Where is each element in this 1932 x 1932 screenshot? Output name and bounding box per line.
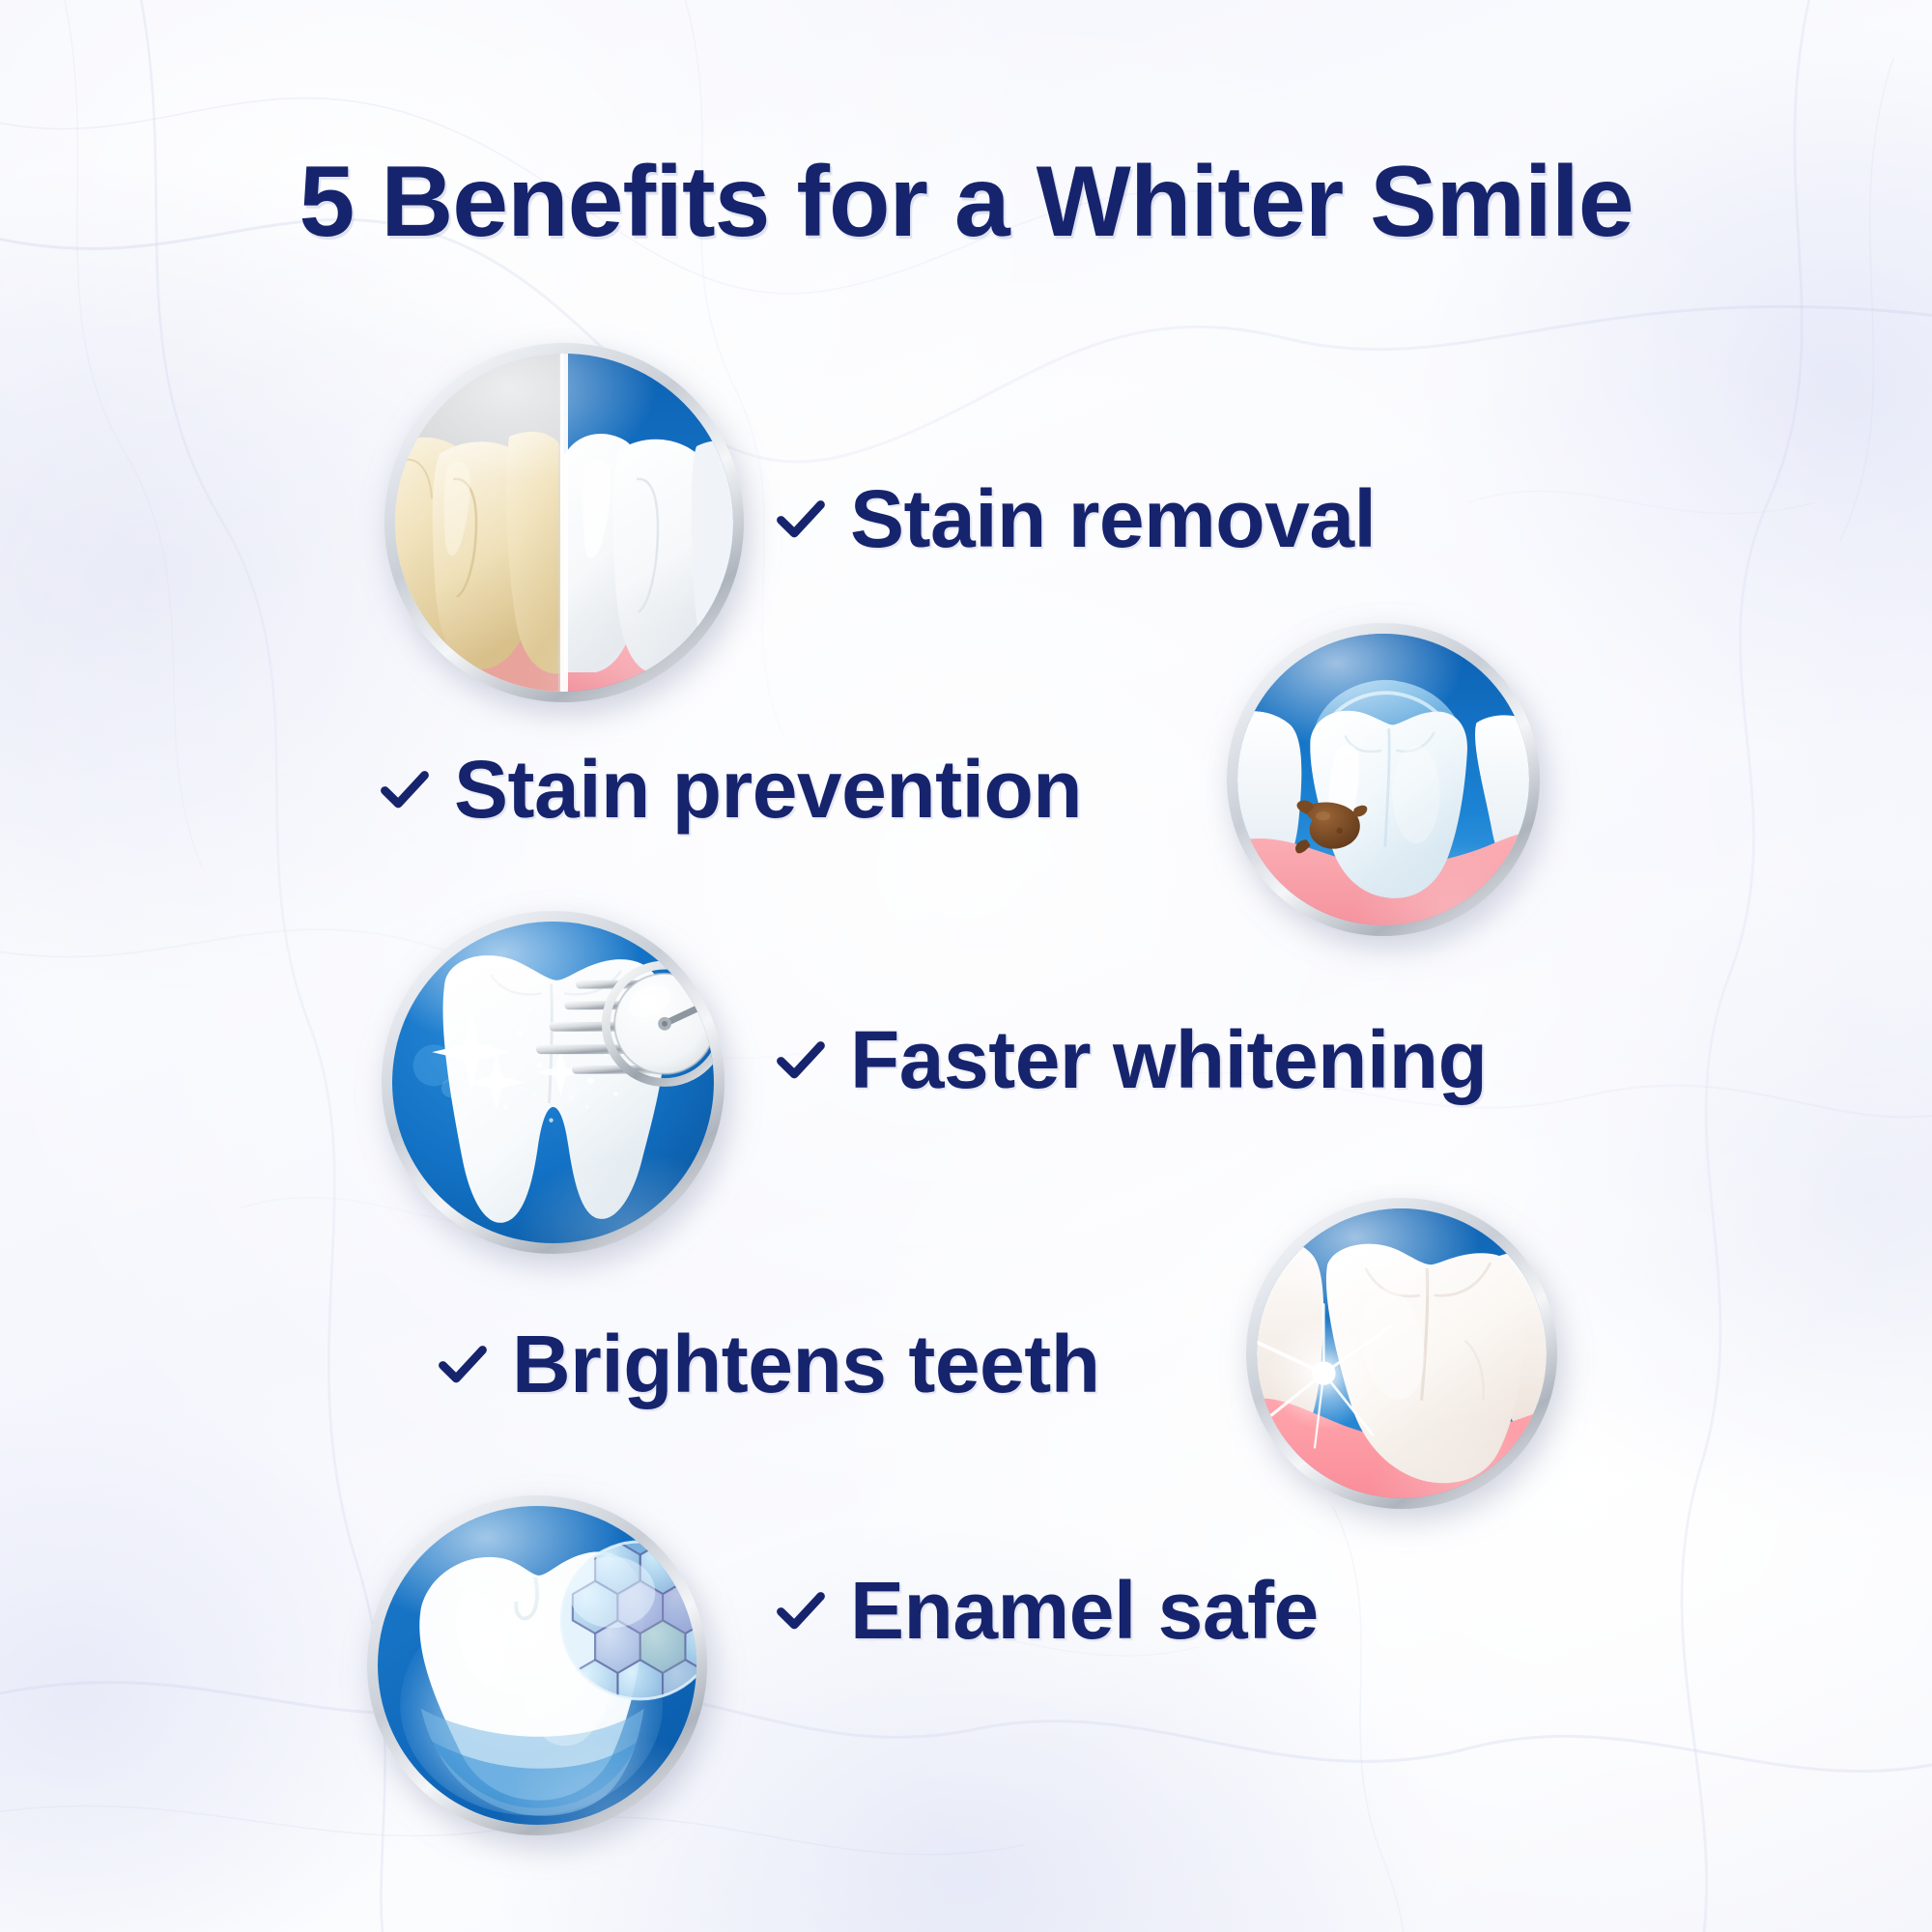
- benefit-row-brightens-teeth: Brightens teeth: [435, 1323, 1100, 1405]
- medallion-image-area: [1257, 1208, 1547, 1498]
- benefit-text: Stain prevention: [454, 749, 1082, 830]
- checkmark-icon: [773, 491, 829, 547]
- medallion-image-area: [395, 354, 733, 692]
- benefit-text: Brightens teeth: [512, 1323, 1100, 1405]
- medallion-image-area: [1237, 634, 1529, 925]
- tooth-with-hexagonal-enamel-structure-icon: [378, 1506, 696, 1825]
- sparkling-tooth-with-stopwatch-icon: [392, 922, 714, 1243]
- benefit-text: Faster whitening: [850, 1019, 1487, 1100]
- medallion-image-area: [392, 922, 714, 1243]
- benefit-text: Stain removal: [850, 478, 1376, 559]
- checkmark-icon: [377, 761, 433, 817]
- benefit-row-stain-prevention: Stain prevention: [377, 749, 1082, 830]
- benefit-image-faster-whitening: [382, 911, 724, 1254]
- benefit-image-brightens-teeth: [1246, 1198, 1557, 1509]
- benefit-label-stain-removal: Stain removal: [773, 478, 1376, 559]
- benefit-row-enamel-safe: Enamel safe: [773, 1570, 1319, 1651]
- page-title: 5 Benefits for a Whiter Smile: [0, 145, 1932, 260]
- benefit-label-enamel-safe: Enamel safe: [773, 1570, 1319, 1651]
- medallion-image-area: [378, 1506, 696, 1825]
- poster-canvas: 5 Benefits for a Whiter Smile: [0, 0, 1932, 1932]
- benefit-image-enamel-safe: [367, 1495, 707, 1835]
- benefit-label-brightens-teeth: Brightens teeth: [435, 1323, 1100, 1405]
- benefit-image-stain-prevention: [1227, 623, 1540, 936]
- benefit-row-faster-whitening: Faster whitening: [773, 1019, 1487, 1100]
- benefit-image-stain-removal: [384, 343, 744, 702]
- benefit-label-stain-prevention: Stain prevention: [377, 749, 1082, 830]
- checkmark-icon: [773, 1582, 829, 1638]
- before-after-stained-vs-white-teeth-icon: [395, 354, 733, 692]
- checkmark-icon: [435, 1336, 491, 1392]
- benefit-label-faster-whitening: Faster whitening: [773, 1019, 1487, 1100]
- benefit-row-stain-removal: Stain removal: [773, 478, 1376, 559]
- benefit-text: Enamel safe: [850, 1570, 1319, 1651]
- tooth-shield-repelling-stain-icon: [1237, 634, 1529, 925]
- bright-white-teeth-with-flare-icon: [1257, 1208, 1547, 1498]
- checkmark-icon: [773, 1032, 829, 1088]
